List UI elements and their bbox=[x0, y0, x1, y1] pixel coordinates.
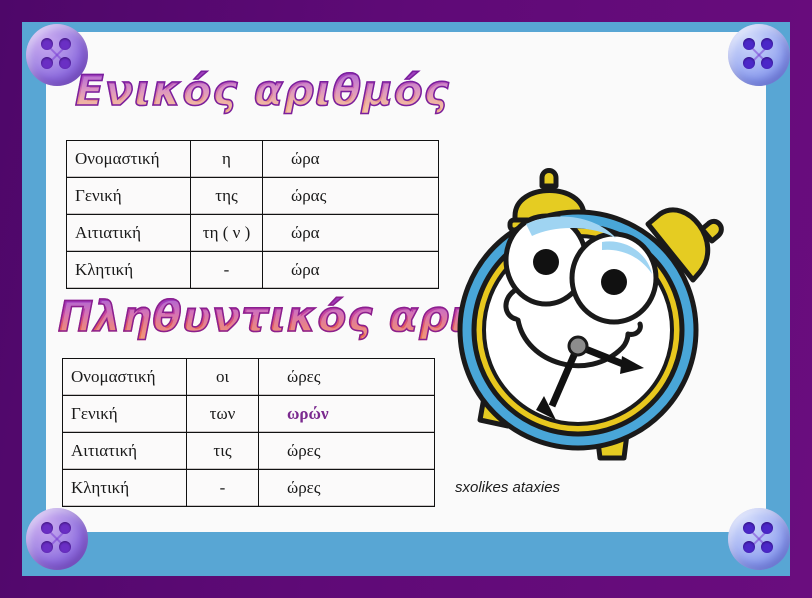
button-hole bbox=[59, 57, 71, 69]
case-label: Κλητική bbox=[63, 470, 187, 507]
button-hole bbox=[743, 57, 755, 69]
noun-value: ώρες bbox=[259, 433, 435, 470]
noun-value: ώρα bbox=[263, 252, 439, 289]
table-row: Ονομαστική οι ώρες bbox=[63, 359, 435, 396]
button-hole bbox=[743, 38, 755, 50]
button-top-right bbox=[728, 24, 790, 86]
button-hole bbox=[761, 541, 773, 553]
table-row: Αιτιατική τις ώρες bbox=[63, 433, 435, 470]
button-hole bbox=[41, 522, 53, 534]
button-hole bbox=[761, 522, 773, 534]
plural-declension-table: Ονομαστική οι ώρες Γενική των ωρών Αιτια… bbox=[62, 358, 435, 507]
article-value: η bbox=[191, 141, 263, 178]
button-top-left bbox=[26, 24, 88, 86]
button-hole bbox=[743, 541, 755, 553]
noun-value: ώρες bbox=[259, 470, 435, 507]
case-label: Αιτιατική bbox=[63, 433, 187, 470]
clock-pupil-left bbox=[533, 249, 559, 275]
button-bottom-left bbox=[26, 508, 88, 570]
button-hole bbox=[59, 38, 71, 50]
article-value: της bbox=[191, 178, 263, 215]
clock-pupil-right bbox=[601, 269, 627, 295]
alarm-clock-illustration bbox=[452, 158, 772, 488]
article-value: των bbox=[187, 396, 259, 433]
button-bottom-right bbox=[728, 508, 790, 570]
singular-section-title: Ενικός αριθμός bbox=[75, 66, 450, 115]
button-hole bbox=[41, 541, 53, 553]
button-hole bbox=[761, 57, 773, 69]
slide-canvas: Ενικός αριθμός Πληθυντικός αριθμός Ονομα… bbox=[0, 0, 812, 598]
table-row: Κλητική - ώρες bbox=[63, 470, 435, 507]
noun-value: ώρας bbox=[263, 178, 439, 215]
case-label: Ονομαστική bbox=[67, 141, 191, 178]
clock-center-pin bbox=[569, 337, 587, 355]
noun-value-highlighted: ωρών bbox=[259, 396, 435, 433]
table-row: Κλητική - ώρα bbox=[67, 252, 439, 289]
noun-value: ώρες bbox=[259, 359, 435, 396]
button-hole bbox=[41, 38, 53, 50]
button-hole bbox=[743, 522, 755, 534]
case-label: Γενική bbox=[67, 178, 191, 215]
table-row: Αιτιατική τη ( ν ) ώρα bbox=[67, 215, 439, 252]
article-value: οι bbox=[187, 359, 259, 396]
noun-value: ώρα bbox=[263, 141, 439, 178]
table-row: Ονομαστική η ώρα bbox=[67, 141, 439, 178]
article-value: τη ( ν ) bbox=[191, 215, 263, 252]
button-hole bbox=[59, 541, 71, 553]
button-hole bbox=[41, 57, 53, 69]
article-value: τις bbox=[187, 433, 259, 470]
article-value: - bbox=[187, 470, 259, 507]
case-label: Αιτιατική bbox=[67, 215, 191, 252]
case-label: Γενική bbox=[63, 396, 187, 433]
signature-text: sxolikes ataxies bbox=[455, 479, 560, 496]
case-label: Κλητική bbox=[67, 252, 191, 289]
button-hole bbox=[761, 38, 773, 50]
article-value: - bbox=[191, 252, 263, 289]
table-row: Γενική των ωρών bbox=[63, 396, 435, 433]
case-label: Ονομαστική bbox=[63, 359, 187, 396]
table-row: Γενική της ώρας bbox=[67, 178, 439, 215]
singular-declension-table: Ονομαστική η ώρα Γενική της ώρας Αιτιατι… bbox=[66, 140, 439, 289]
button-hole bbox=[59, 522, 71, 534]
noun-value: ώρα bbox=[263, 215, 439, 252]
